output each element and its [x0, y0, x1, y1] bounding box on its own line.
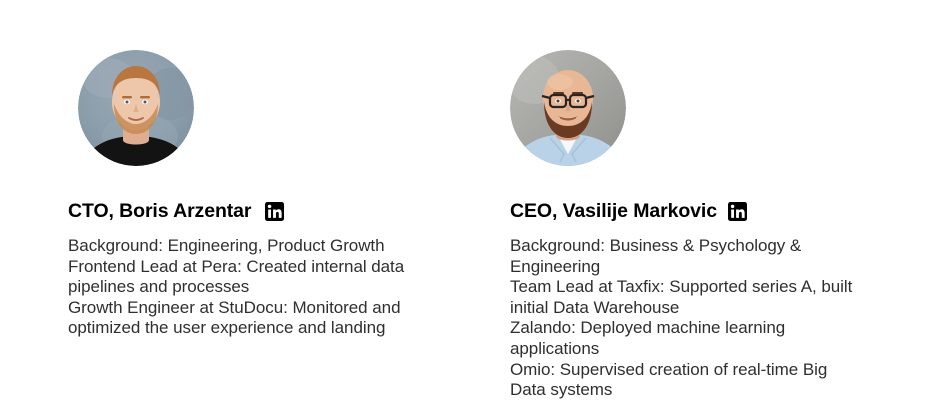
linkedin-icon[interactable]	[265, 202, 284, 221]
bio-line: Frontend Lead at Pera: Created internal …	[68, 257, 413, 298]
person-name-ceo: CEO, Vasilije Markovic	[510, 200, 717, 222]
person-name-cto: CTO, Boris Arzentar	[68, 200, 251, 222]
avatar-boris-arzentar	[78, 50, 194, 166]
name-row-ceo: CEO, Vasilije Markovic	[510, 200, 910, 222]
profile-card-ceo: CEO, Vasilije Markovic Background: Busin…	[510, 50, 910, 401]
bio-line: Background: Engineering, Product Growth	[68, 236, 413, 257]
bio-line: Background: Business & Psychology & Engi…	[510, 236, 860, 277]
bio-line: Omio: Supervised creation of real-time B…	[510, 360, 860, 401]
team-profiles-section: CTO, Boris Arzentar Background: Engineer…	[0, 0, 948, 412]
name-row-cto: CTO, Boris Arzentar	[68, 200, 468, 222]
bio-line: Team Lead at Taxfix: Supported series A,…	[510, 277, 860, 318]
bio-line: Zalando: Deployed machine learning appli…	[510, 318, 860, 359]
profile-card-cto: CTO, Boris Arzentar Background: Engineer…	[68, 50, 468, 339]
avatar-vasilije-markovic	[510, 50, 626, 166]
bio-cto: Background: Engineering, Product Growth …	[68, 236, 413, 339]
linkedin-icon[interactable]	[728, 202, 747, 221]
bio-ceo: Background: Business & Psychology & Engi…	[510, 236, 860, 401]
bio-line: Growth Engineer at StuDocu: Monitored an…	[68, 298, 413, 339]
